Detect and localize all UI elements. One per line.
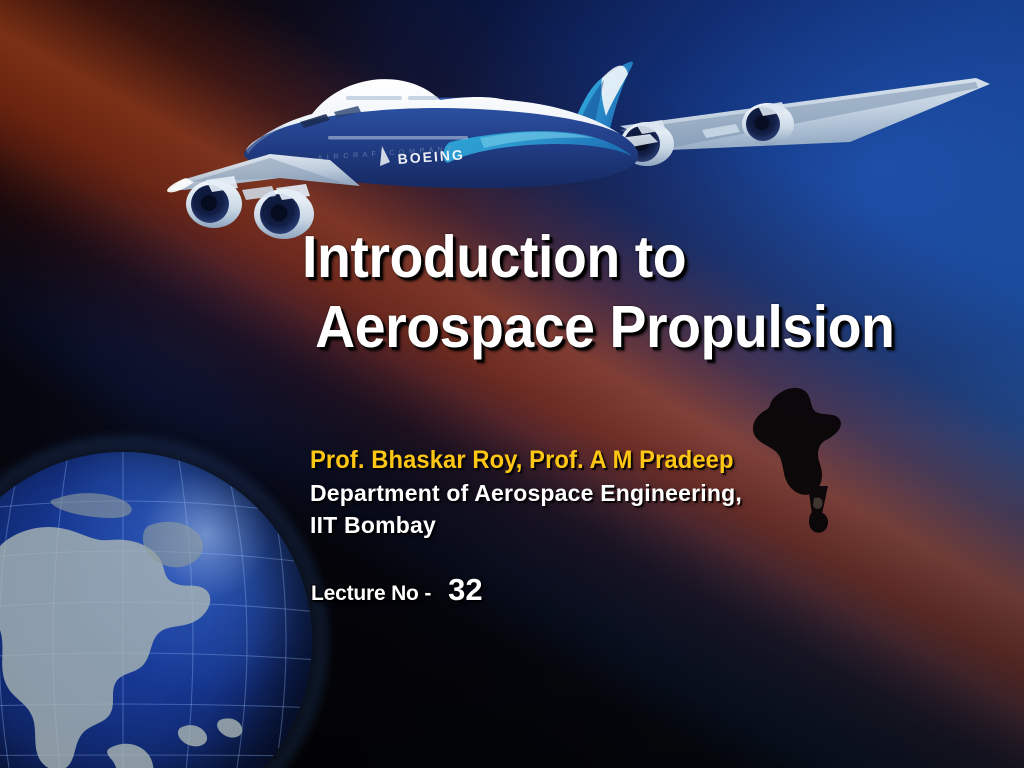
airplane-left-engines <box>186 176 314 239</box>
globe-sphere <box>0 452 312 768</box>
author-names: Prof. Bhaskar Roy, Prof. A M Pradeep <box>310 446 918 475</box>
title-line-2: Aerospace Propulsion <box>302 292 960 362</box>
department-line-1: Department of Aerospace Engineering, <box>310 479 950 507</box>
title-line-1: Introduction to <box>302 222 960 292</box>
airplane-right-wing <box>620 78 990 150</box>
slide-title: Introduction to Aerospace Propulsion <box>302 222 1002 362</box>
airplane-right-engines <box>620 102 794 166</box>
airplane-upper-windows <box>346 96 438 100</box>
department-line-2: IIT Bombay <box>310 511 950 539</box>
presentation-slide: BOEING A I R C R A F T C O M P A N Y <box>0 0 1024 768</box>
airplane-cabin-windows <box>328 136 468 140</box>
author-affiliation-block: Prof. Bhaskar Roy, Prof. A M Pradeep Dep… <box>310 446 950 539</box>
earth-globe <box>0 452 312 768</box>
lecture-number: 32 <box>448 572 482 608</box>
boeing-747-airliner: BOEING A I R C R A F T C O M P A N Y <box>150 38 990 248</box>
lecture-label: Lecture No - <box>311 582 431 606</box>
lecture-number-block: Lecture No - 32 <box>311 572 483 608</box>
